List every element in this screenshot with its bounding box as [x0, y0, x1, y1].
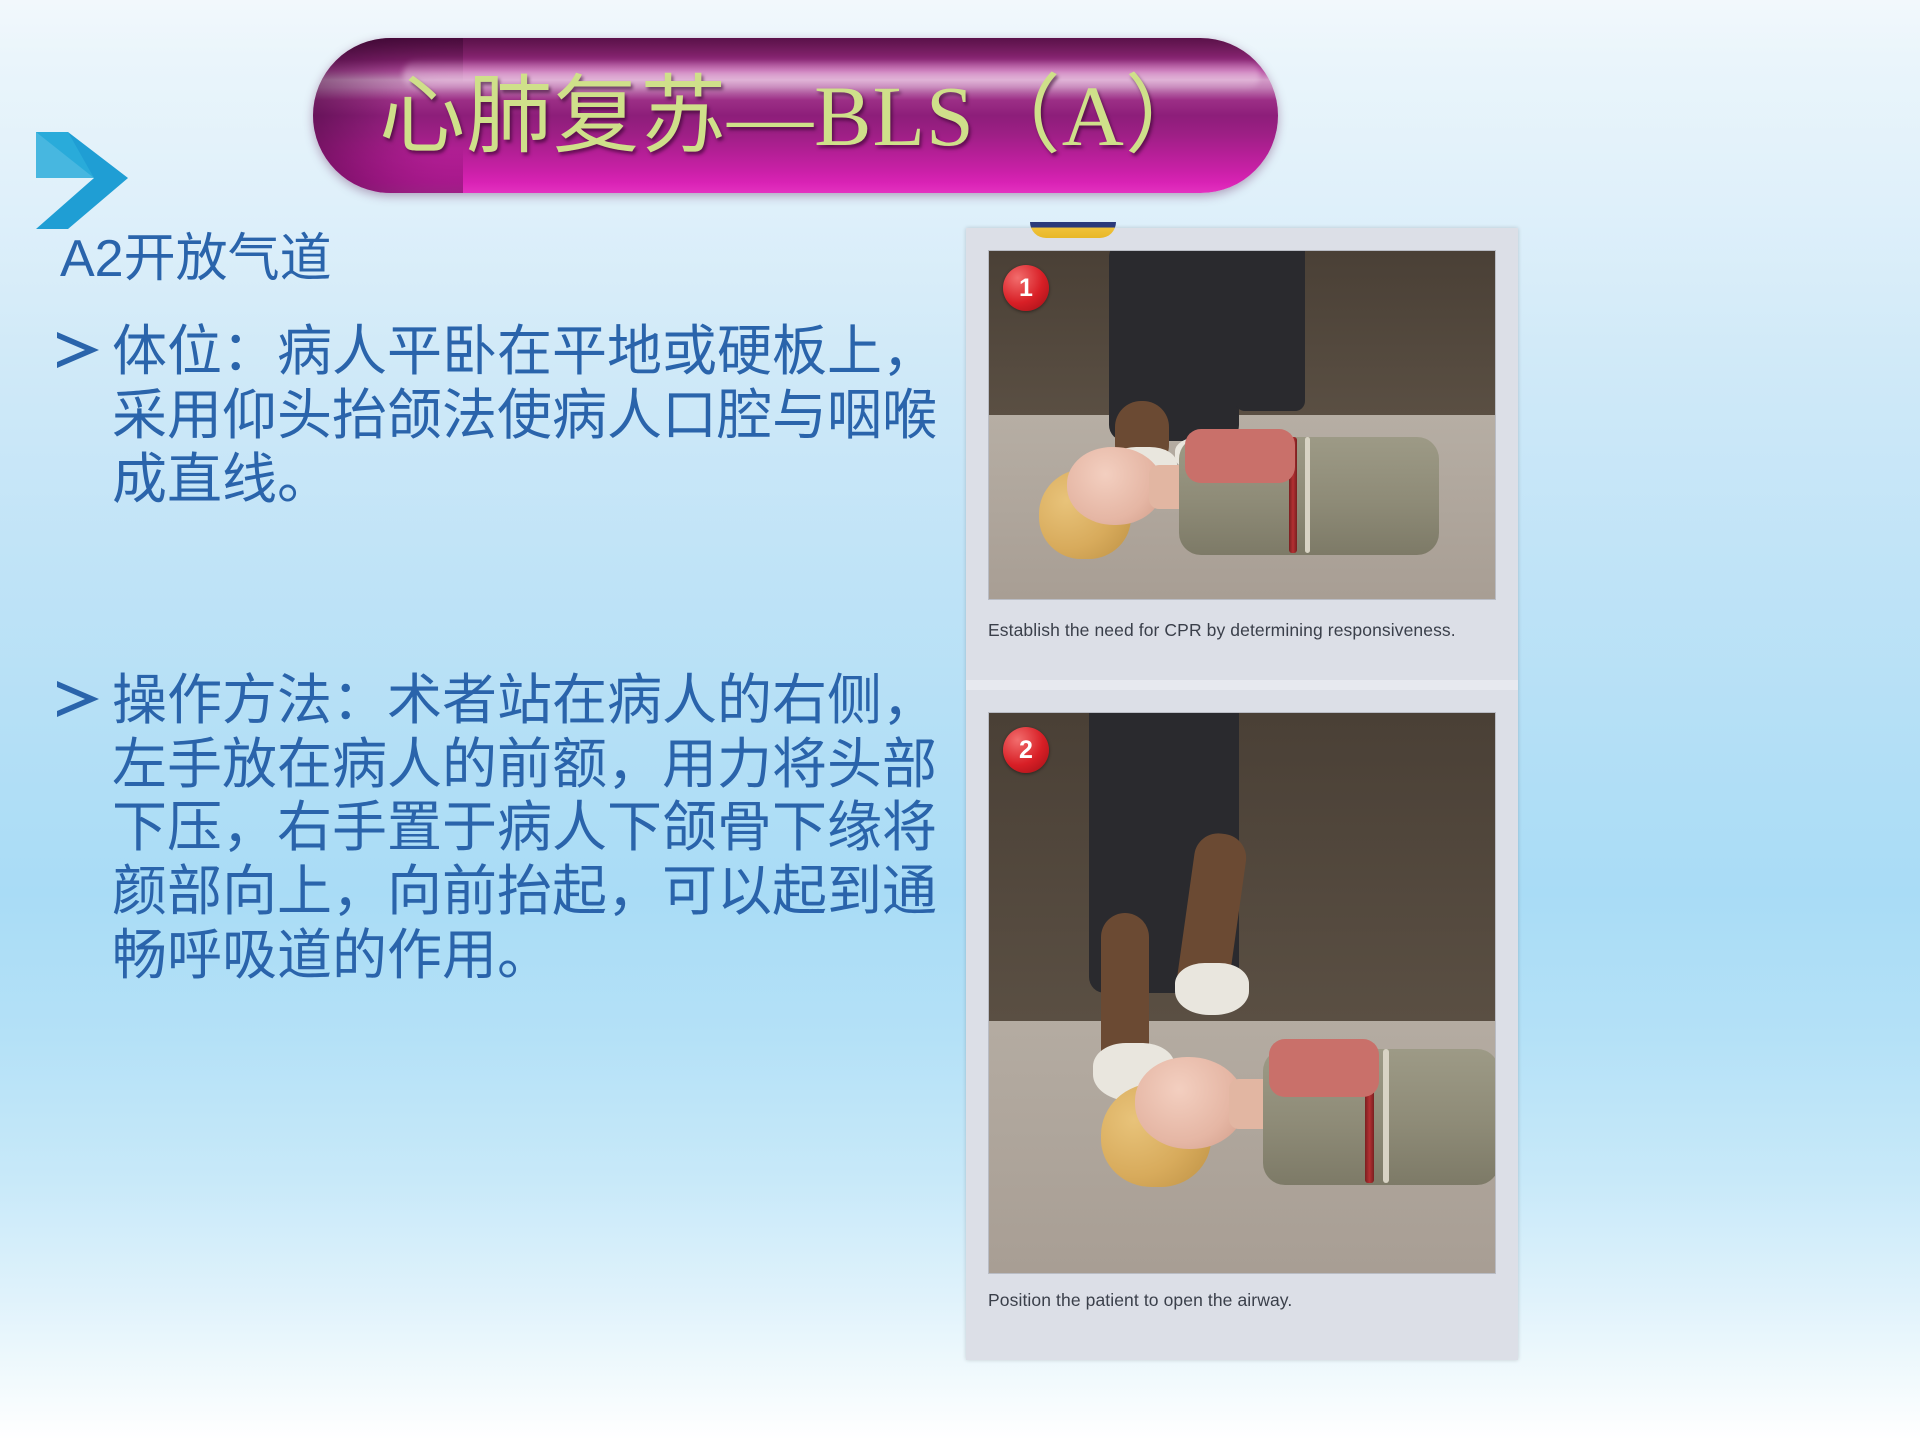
photo-caption-2: Position the patient to open the airway. [988, 1290, 1504, 1311]
cpr-scene-open-airway [989, 713, 1495, 1273]
chevron-right-icon [30, 128, 140, 233]
cropped-top-sliver [1030, 222, 1116, 238]
bullet-item-method: 操作方法：术者站在病人的右侧，左手放在病人的前额，用力将头部下压，右手置于病人下… [52, 669, 952, 988]
page-title: 心肺复苏—BLS（A） [313, 73, 1278, 159]
photo-caption-1: Establish the need for CPR by determinin… [988, 620, 1504, 641]
slide-title-banner: 心肺复苏—BLS（A） [313, 38, 1278, 193]
body-spacer [52, 524, 952, 669]
photo-image-1: 1 [988, 250, 1496, 600]
slide-body: A2开放气道 体位：病人平卧在平地或硬板上，采用仰头抬颌法使病人口腔与咽喉成直线… [52, 228, 952, 1000]
arrow-bullet-icon [52, 322, 104, 378]
slide-canvas: 心肺复苏—BLS（A） A2开放气道 体位：病人平卧在平地或硬板上，采用仰头抬颌… [0, 0, 1920, 1440]
sub-heading: A2开放气道 [60, 228, 952, 290]
photo-step-badge-2: 2 [1003, 727, 1049, 773]
bullet-item-position: 体位：病人平卧在平地或硬板上，采用仰头抬颌法使病人口腔与咽喉成直线。 [52, 320, 952, 511]
photo-panel: 1 Establish the need for CPR by determin… [966, 228, 1518, 1360]
photo-block-2: 2 Position the patient to open the airwa… [966, 690, 1518, 1360]
bullet-text: 操作方法：术者站在病人的右侧，左手放在病人的前额，用力将头部下压，右手置于病人下… [112, 669, 952, 988]
arrow-bullet-icon [52, 671, 104, 727]
bullet-text: 体位：病人平卧在平地或硬板上，采用仰头抬颌法使病人口腔与咽喉成直线。 [112, 320, 952, 511]
photo-block-1: 1 Establish the need for CPR by determin… [966, 228, 1518, 680]
photo-step-badge-1: 1 [1003, 265, 1049, 311]
cpr-scene-responsiveness [989, 251, 1495, 599]
photo-image-2: 2 [988, 712, 1496, 1274]
